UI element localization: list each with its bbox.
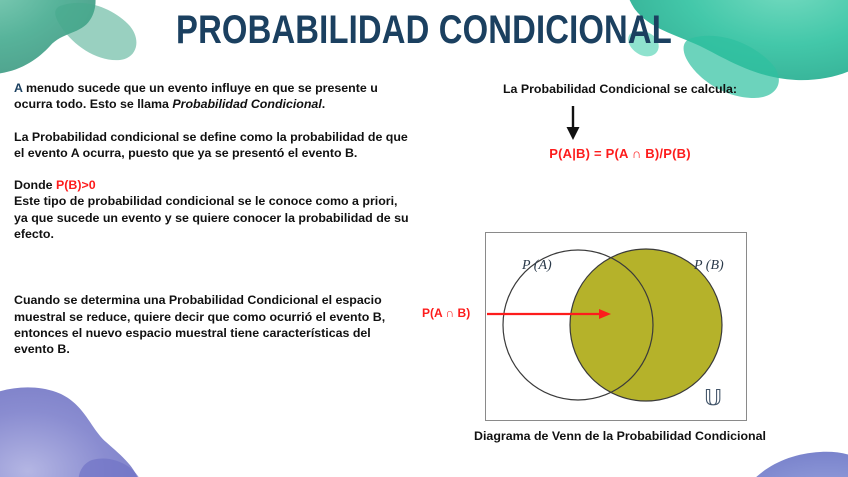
paragraph-definition: La Probabilidad condicional se define co… [14,129,414,162]
conditional-probability-formula: P(A|B) = P(A ∩ B)/P(B) [455,146,785,161]
lead-letter-a: A [14,81,23,95]
intersection-arrow-icon [487,305,613,323]
intersection-label: P(A ∩ B) [422,306,470,320]
term-probabilidad-condicional: Probabilidad Condicional [172,97,321,111]
watercolor-blue-bottom-right-icon [728,418,848,477]
paragraph-definition-intro: A menudo sucede que un evento influye en… [14,80,414,113]
page-title: PROBABILIDAD CONDICIONAL [76,8,771,53]
paragraph-1-end: . [322,97,325,111]
down-arrow-icon [555,104,591,142]
slide-canvas: PROBABILIDAD CONDICIONAL A menudo sucede… [0,0,848,477]
venn-caption: Diagrama de Venn de la Probabilidad Cond… [420,429,820,443]
condition-pb-greater-zero: P(B)>0 [56,178,96,192]
watercolor-purple-bottom-left-icon [0,380,180,477]
calculation-heading: La Probabilidad Condicional se calcula: [455,82,785,96]
left-text-column: A menudo sucede que un evento influye en… [14,80,414,374]
paragraph-condition: Donde P(B)>0Este tipo de probabilidad co… [14,177,414,242]
donde-label: Donde [14,178,56,192]
paragraph-apriori: Este tipo de probabilidad condicional se… [14,194,409,241]
venn-universe-symbol: 𝕌 [704,385,722,410]
venn-label-b: P (B) [693,258,724,273]
venn-label-a: P (A) [521,258,552,273]
paragraph-sample-space: Cuando se determina una Probabilidad Con… [14,292,414,357]
venn-diagram-box: P (A) P (B) 𝕌 [485,232,747,421]
paragraph-spacer [14,258,414,292]
